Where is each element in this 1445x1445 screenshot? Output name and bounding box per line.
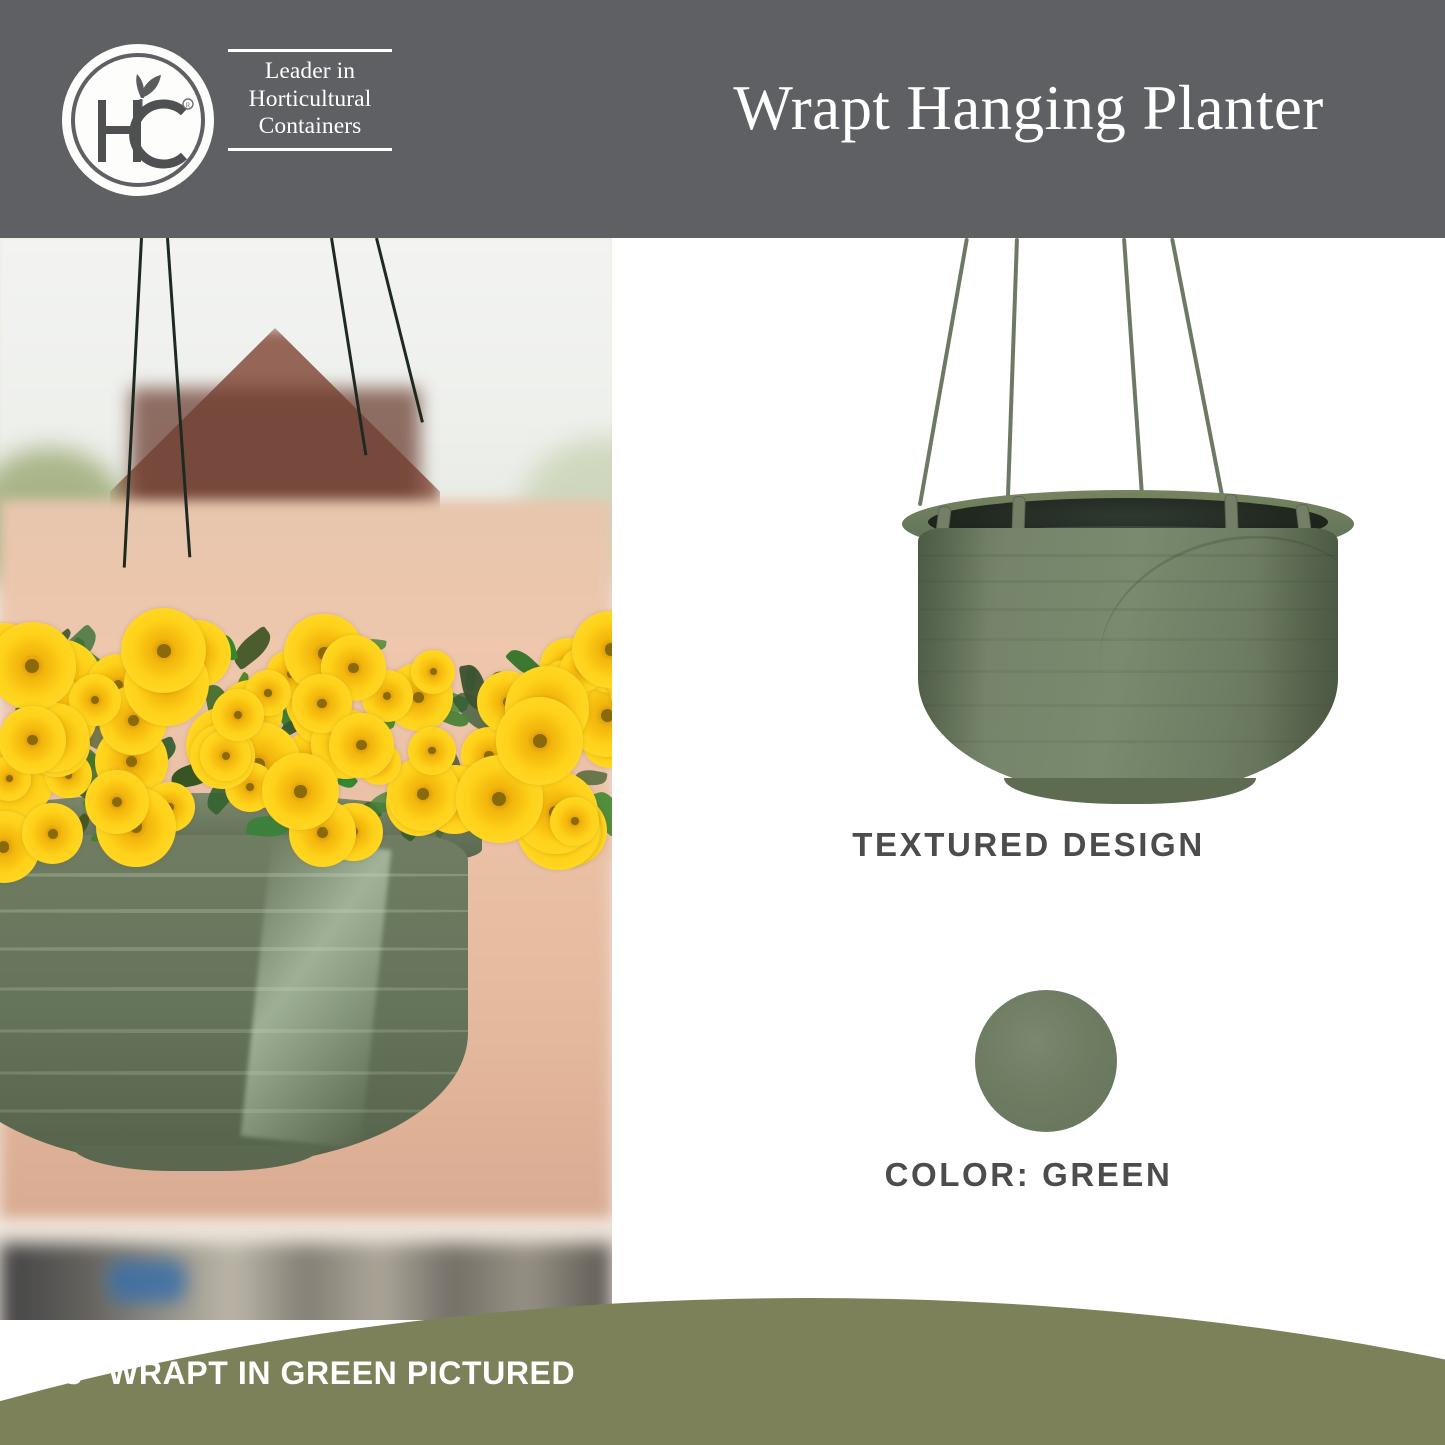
lifestyle-planter-ridge: [0, 909, 468, 913]
product-planter-ridge: [918, 670, 1338, 673]
product-planter-ridge: [918, 704, 1338, 707]
photo-flowers: [0, 598, 612, 848]
photo-bloom: [121, 608, 206, 693]
product-hero-image: [722, 238, 1342, 818]
product-hanger-wire-4: [1170, 238, 1225, 502]
product-planter-body: [918, 528, 1338, 796]
product-hanger-wire-3: [1122, 238, 1144, 500]
color-label: COLOR: GREEN: [612, 1156, 1445, 1194]
product-planter-ridge: [918, 740, 1338, 743]
photo-fence-blue-accent: [108, 1260, 186, 1302]
lifestyle-planter-ridge: [0, 987, 468, 991]
lifestyle-planter-ridge: [0, 873, 468, 877]
photo-bloom: [212, 689, 264, 741]
product-planter-shade-right: [1258, 528, 1338, 796]
product-hanger-wire-1: [918, 238, 969, 507]
product-planter-ridge: [918, 608, 1338, 611]
header-bar: R Leader in Horticultural Containers Wra…: [0, 0, 1445, 238]
page-title: Wrapt Hanging Planter: [612, 0, 1445, 238]
brand-tagline: Leader in Horticultural Containers: [228, 49, 392, 151]
lifestyle-planter-body: [0, 835, 468, 1165]
photo-bloom: [411, 650, 455, 694]
brand-lockup: R Leader in Horticultural Containers: [62, 44, 392, 196]
product-hanger-wire-2: [1005, 238, 1019, 516]
right-info-panel: TEXTURED DESIGN COLOR: GREEN: [612, 238, 1445, 1445]
lifestyle-planter-ridge: [0, 1071, 468, 1075]
lifestyle-photo: [0, 238, 612, 1320]
lifestyle-planter-ridge: [0, 1109, 468, 1113]
product-planter-base: [1004, 778, 1256, 804]
photo-bloom: [85, 770, 150, 835]
brand-seal: R: [62, 44, 214, 196]
photo-bloom: [262, 753, 339, 830]
tagline-rule-bottom: [228, 148, 392, 151]
lifestyle-planter-ridge: [0, 947, 468, 951]
photo-bloom: [22, 803, 83, 864]
photo-bloom: [408, 727, 456, 775]
product-planter-ridge: [918, 580, 1338, 583]
photo-fence: [0, 1243, 612, 1320]
hc-monogram-icon: R: [62, 44, 214, 196]
feature-label-textured-design: TEXTURED DESIGN: [612, 826, 1445, 864]
photo-bloom: [329, 713, 394, 778]
brand-tagline-text: Leader in Horticultural Containers: [228, 52, 392, 148]
lifestyle-planter-base: [72, 1145, 322, 1171]
product-planter-ridge: [918, 638, 1338, 641]
lifestyle-planter-highlight: [241, 838, 392, 1149]
product-planter-ridge: [918, 554, 1338, 557]
photo-bloom: [496, 697, 583, 784]
product-infographic: R Leader in Horticultural Containers Wra…: [0, 0, 1445, 1445]
photo-bloom: [0, 706, 66, 773]
photo-bloom: [550, 797, 599, 846]
footer-caption: 13" WRAPT IN GREEN PICTURED: [46, 1355, 575, 1392]
lifestyle-planter-ridge: [0, 1029, 468, 1033]
svg-text:R: R: [186, 102, 191, 110]
color-swatch: [975, 990, 1117, 1132]
product-planter-shade-left: [918, 528, 988, 796]
